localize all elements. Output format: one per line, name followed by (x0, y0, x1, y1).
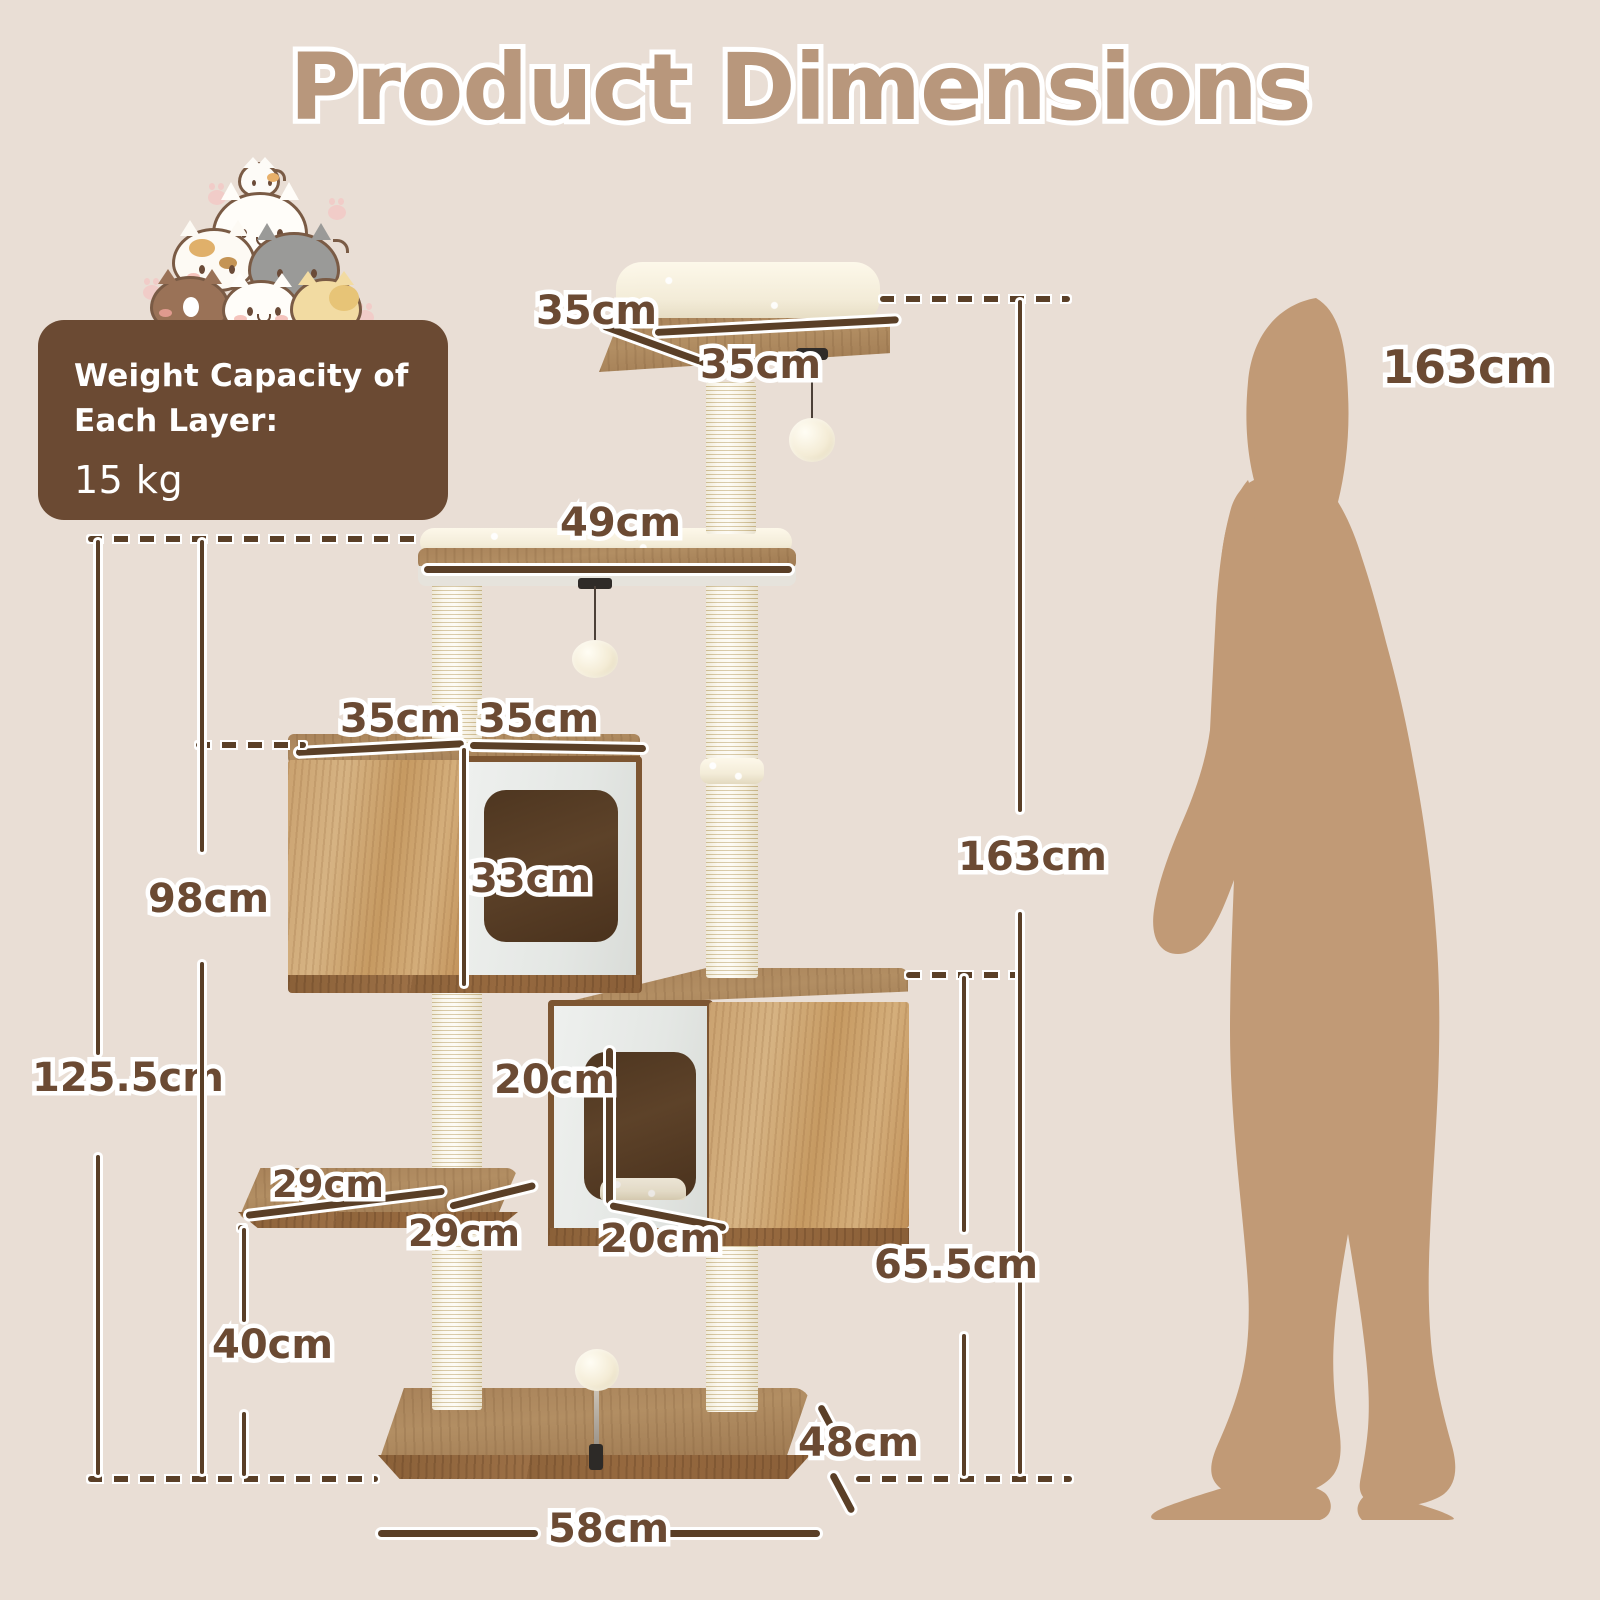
measure-line-163-upper (1018, 300, 1022, 812)
dimension-label-65: 65.5cm (874, 1242, 1038, 1288)
dimension-label-lower-opening-width: 20cm (600, 1216, 721, 1262)
mid-toy-pompom (572, 640, 618, 678)
dimension-label-40: 40cm (212, 1322, 333, 1368)
measure-line-65-lower (962, 1334, 966, 1476)
measure-line-40-lower (242, 1412, 246, 1476)
dimension-label-step-right: 29cm (408, 1212, 520, 1255)
guide-line-125 (88, 536, 418, 542)
dimension-label-mid-platform: 49cm (560, 500, 681, 546)
upper-condo-side-panel (288, 760, 464, 982)
weight-capacity-badge: Weight Capacity of Each Layer: 15 kg (38, 320, 448, 520)
guide-line-98 (196, 742, 306, 748)
dimension-label-base-width: 58cm (548, 1506, 669, 1552)
measure-line-98-lower (200, 962, 204, 1474)
scratching-post-top (706, 382, 756, 534)
dimension-label-98: 98cm (148, 876, 269, 922)
dimension-label-step-left: 29cm (272, 1163, 384, 1206)
measure-line-65-upper (962, 976, 966, 1232)
spring-toy-base (589, 1444, 603, 1470)
weight-capacity-line1: Weight Capacity of (74, 354, 448, 399)
dimension-label-top-left: 35cm (536, 288, 657, 334)
measure-line-163-lower (1018, 912, 1022, 1474)
lower-condo-side-panel (709, 1002, 909, 1228)
post-plush-ring (700, 758, 764, 784)
dimension-label-163: 163cm (958, 834, 1107, 880)
measure-line-98-upper (200, 540, 204, 852)
dimension-label-125: 125.5cm (32, 1055, 224, 1101)
person-silhouette (1130, 290, 1550, 1520)
measure-line-base-width-left (378, 1530, 538, 1537)
measure-line-mid-platform (424, 566, 792, 573)
dimension-label-lower-opening-height: 20cm (494, 1057, 615, 1103)
measure-line-upper-condo-corner (462, 748, 466, 986)
guide-line-bottom-left (88, 1476, 378, 1482)
measure-line-125-lower (96, 1155, 100, 1475)
weight-capacity-value: 15 kg (74, 458, 448, 502)
weight-capacity-line2: Each Layer: (74, 399, 448, 444)
measure-line-125-upper (96, 540, 100, 1055)
silhouette-height-label: 163cm (1382, 340, 1553, 394)
dimension-label-upper-condo-left: 35cm (340, 696, 461, 742)
dimension-label-base-depth: 48cm (798, 1420, 919, 1466)
infographic-canvas: Product Dimensions (0, 0, 1600, 1600)
dimension-label-upper-condo-opening: 33cm (470, 856, 591, 902)
measure-line-40-upper (242, 1228, 246, 1322)
dimension-label-upper-condo-right: 35cm (478, 696, 599, 742)
cat-pile-illustration (128, 150, 378, 335)
paw-print-icon (328, 205, 346, 220)
page-title: Product Dimensions (0, 34, 1600, 141)
mid-toy-cord (594, 586, 596, 648)
guide-line-bottom-right (856, 1476, 1072, 1482)
dimension-label-top-right: 35cm (700, 342, 821, 388)
spring-toy-pompom (575, 1349, 619, 1391)
measure-line-base-depth-lower (829, 1472, 856, 1514)
measure-line-base-width-right (660, 1530, 820, 1537)
guide-line-163-top (880, 296, 1070, 302)
top-toy-pompom (789, 418, 835, 462)
